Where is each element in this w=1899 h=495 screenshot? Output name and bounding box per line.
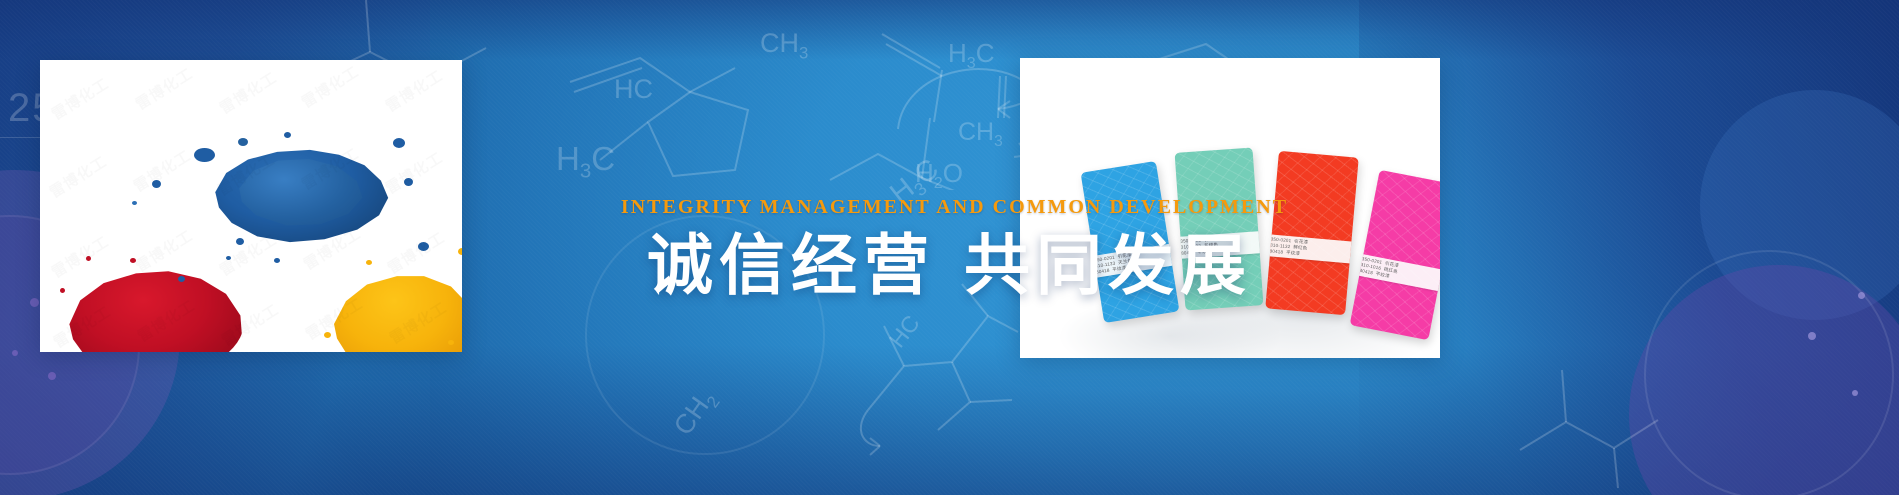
- decor-dot: [1852, 390, 1858, 396]
- decor-dot: [1858, 292, 1865, 299]
- pigment-speck: [132, 201, 137, 205]
- swatch-code: 350-0201 引花漆 310-1133 天兰色 80418 平纹漆: [1094, 252, 1134, 276]
- swatch-red: 350-0201 引花漆 310-1132 鲜红色 80418 平纹漆: [1265, 151, 1358, 315]
- chem-label-hc-1: HC: [614, 74, 653, 105]
- swatch-code: 350-0201 引花漆 310-1133 灰绿色 80418 平纹漆: [1180, 236, 1219, 257]
- red-pigment-pile: [64, 268, 244, 352]
- watermark-text: 雷博化工: [129, 145, 194, 197]
- chem-structure-far-right: [1500, 330, 1700, 490]
- decor-dot: [48, 372, 56, 380]
- color-swatch-photo: 350-0201 引花漆 310-1133 天兰色 80418 平纹漆 350-…: [1020, 58, 1440, 358]
- pigment-speck: [130, 258, 136, 263]
- pigment-speck: [418, 242, 429, 251]
- pigment-speck: [194, 148, 215, 162]
- chem-label-h3c-3: H3C: [948, 38, 995, 73]
- swatch-code: 350-0201 引花漆 310-1132 鲜红色 80418 平纹漆: [1269, 236, 1308, 257]
- swatch-mint: 350-0201 引花漆 310-1133 灰绿色 80418 平纹漆: [1175, 147, 1264, 310]
- watermark-text: 雷博化工: [131, 225, 196, 277]
- watermark-text: 雷博化工: [45, 151, 110, 203]
- chem-label-ch3-2: CH3: [958, 118, 1003, 151]
- pigment-speck: [393, 138, 405, 148]
- watermark-text: 雷博化工: [47, 231, 112, 283]
- swatch-texture: [1081, 161, 1180, 323]
- swatch-blue: 350-0201 引花漆 310-1133 天兰色 80418 平纹漆: [1081, 161, 1180, 323]
- pigment-speck: [86, 256, 91, 261]
- pigment-speck: [152, 180, 161, 188]
- watermark-text: 雷博化工: [47, 73, 112, 125]
- watermark-text: 雷博化工: [297, 61, 362, 113]
- pigment-speck: [324, 332, 331, 338]
- pigment-powder-photo: 雷博化工 雷博化工 雷博化工 雷博化工 雷博化工 雷博化工 雷博化工 雷博化工 …: [40, 60, 462, 352]
- pigment-speck: [404, 178, 413, 186]
- watermark-text: 雷博化工: [131, 63, 196, 115]
- yellow-pigment-pile: [328, 272, 462, 352]
- decor-dot: [1808, 332, 1816, 340]
- pigment-speck: [448, 340, 454, 345]
- pigment-speck: [458, 248, 462, 255]
- chem-label-h3c-1: H3C: [556, 140, 615, 184]
- watermark-text: 雷博化工: [381, 65, 446, 117]
- promo-banner: 250: [0, 0, 1899, 495]
- pigment-speck: [238, 138, 248, 146]
- pigment-speck: [366, 260, 372, 265]
- decor-dot: [12, 350, 18, 356]
- pigment-speck: [274, 258, 280, 263]
- swatch-texture: [1265, 151, 1358, 315]
- pigment-speck: [60, 288, 65, 293]
- decor-dot: [30, 298, 39, 307]
- watermark-text: 雷博化工: [381, 147, 446, 199]
- swatch-pink: 350-0201 引花漆 310-1016 桃红色 80418 平纹漆: [1350, 170, 1440, 340]
- chem-label-h2o-1: H2O: [915, 158, 963, 193]
- watermark-text: 雷博化工: [215, 67, 280, 119]
- swatch-texture: [1175, 147, 1264, 310]
- pigment-speck: [284, 132, 291, 138]
- pigment-speck: [178, 276, 185, 282]
- pigment-speck: [236, 238, 244, 245]
- pigment-speck: [226, 256, 231, 260]
- watermark-text: 雷博化工: [383, 227, 448, 279]
- chem-label-ch3-1: CH3: [760, 28, 808, 63]
